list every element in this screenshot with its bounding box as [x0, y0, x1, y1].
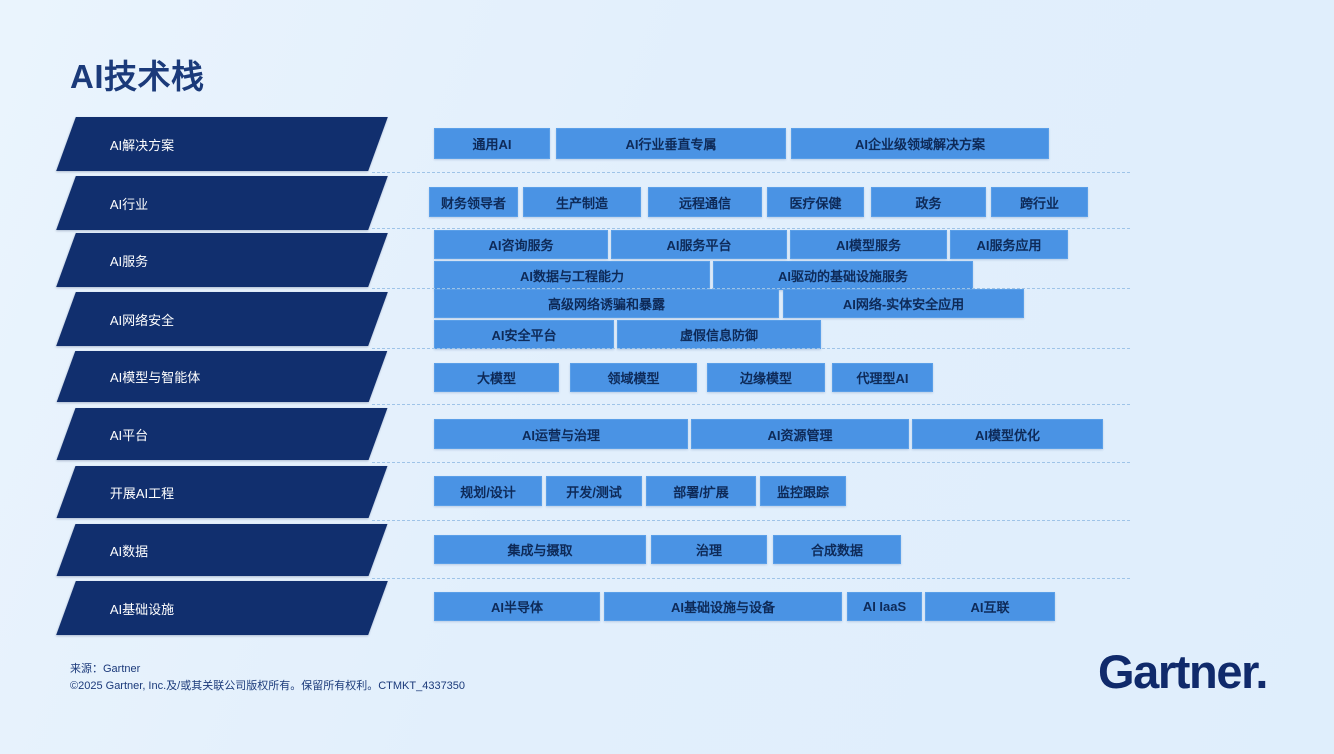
layer-label-4[interactable]: AI模型与智能体 [57, 351, 388, 402]
tech-box[interactable]: AI服务应用 [950, 230, 1068, 259]
page-title: AI技术栈 [70, 50, 205, 98]
tech-box[interactable]: 治理 [651, 535, 767, 564]
layer-label-2[interactable]: AI服务 [56, 233, 388, 287]
tech-box[interactable]: 虚假信息防御 [617, 320, 821, 349]
gartner-logo: Gartner. [1098, 644, 1267, 699]
layer-divider [372, 578, 1130, 579]
tech-box[interactable]: AI咨询服务 [434, 230, 608, 259]
footer: 来源：Gartner ©2025 Gartner, Inc.及/或其关联公司版权… [70, 661, 465, 695]
layer-label-text: AI模型与智能体 [110, 367, 200, 386]
layer-divider [372, 172, 1130, 173]
tech-box[interactable]: 大模型 [434, 363, 559, 392]
tech-box[interactable]: 监控跟踪 [760, 476, 846, 506]
tech-box[interactable]: AI模型优化 [912, 419, 1103, 449]
tech-box[interactable]: AI驱动的基础设施服务 [713, 261, 973, 290]
layer-label-text: AI数据 [110, 541, 148, 560]
tech-box[interactable]: 开发/测试 [546, 476, 642, 506]
layer-label-text: AI平台 [110, 425, 148, 444]
layer-label-7[interactable]: AI数据 [57, 524, 388, 576]
tech-box[interactable]: AI行业垂直专属 [556, 128, 786, 159]
layer-label-text: 开展AI工程 [110, 483, 174, 502]
layer-divider [372, 348, 1130, 349]
layer-label-text: AI网络安全 [110, 310, 174, 329]
tech-box[interactable]: 合成数据 [773, 535, 901, 564]
tech-box[interactable]: AI互联 [925, 592, 1055, 621]
layer-label-5[interactable]: AI平台 [57, 408, 388, 460]
tech-box[interactable]: AI数据与工程能力 [434, 261, 710, 290]
layer-label-text: AI解决方案 [110, 135, 174, 154]
tech-box[interactable]: 生产制造 [523, 187, 641, 217]
tech-box[interactable]: 规划/设计 [434, 476, 542, 506]
layer-divider [372, 520, 1130, 521]
layer-label-1[interactable]: AI行业 [56, 176, 388, 230]
tech-box[interactable]: 代理型AI [832, 363, 933, 392]
tech-box[interactable]: AI服务平台 [611, 230, 787, 259]
layer-divider [372, 462, 1130, 463]
tech-box[interactable]: AI网络-实体安全应用 [783, 289, 1024, 318]
tech-box[interactable]: 高级网络诱骗和暴露 [434, 289, 779, 318]
tech-box[interactable]: AI模型服务 [790, 230, 947, 259]
footer-copyright: ©2025 Gartner, Inc.及/或其关联公司版权所有。保留所有权利。C… [70, 678, 465, 695]
tech-box[interactable]: 财务领导者 [429, 187, 518, 217]
tech-box[interactable]: AI企业级领域解决方案 [791, 128, 1049, 159]
layer-label-text: AI行业 [110, 194, 148, 213]
layer-label-6[interactable]: 开展AI工程 [57, 466, 388, 518]
layer-divider [372, 404, 1130, 405]
tech-box[interactable]: AI半导体 [434, 592, 600, 621]
footer-source: 来源：Gartner [70, 661, 465, 678]
tech-box[interactable]: 集成与摄取 [434, 535, 646, 564]
layer-label-0[interactable]: AI解决方案 [56, 117, 388, 171]
tech-box[interactable]: 医疗保健 [767, 187, 864, 217]
slide-canvas: AI技术栈 AI解决方案通用AIAI行业垂直专属AI企业级领域解决方案AI行业财… [0, 0, 1334, 754]
tech-box[interactable]: AI运营与治理 [434, 419, 688, 449]
layer-label-8[interactable]: AI基础设施 [56, 581, 388, 635]
layer-label-3[interactable]: AI网络安全 [56, 292, 388, 346]
tech-box[interactable]: AI资源管理 [691, 419, 909, 449]
tech-box[interactable]: 领域模型 [570, 363, 697, 392]
tech-box[interactable]: 远程通信 [648, 187, 762, 217]
tech-box[interactable]: AI基础设施与设备 [604, 592, 842, 621]
layer-divider [372, 228, 1130, 229]
tech-box[interactable]: AI IaaS [847, 592, 922, 621]
tech-box[interactable]: AI安全平台 [434, 320, 614, 349]
layer-label-text: AI基础设施 [110, 599, 174, 618]
tech-box[interactable]: 通用AI [434, 128, 550, 159]
tech-box[interactable]: 部署/扩展 [646, 476, 756, 506]
layer-label-text: AI服务 [110, 251, 148, 270]
tech-box[interactable]: 跨行业 [991, 187, 1088, 217]
tech-box[interactable]: 边缘模型 [707, 363, 825, 392]
tech-box[interactable]: 政务 [871, 187, 986, 217]
